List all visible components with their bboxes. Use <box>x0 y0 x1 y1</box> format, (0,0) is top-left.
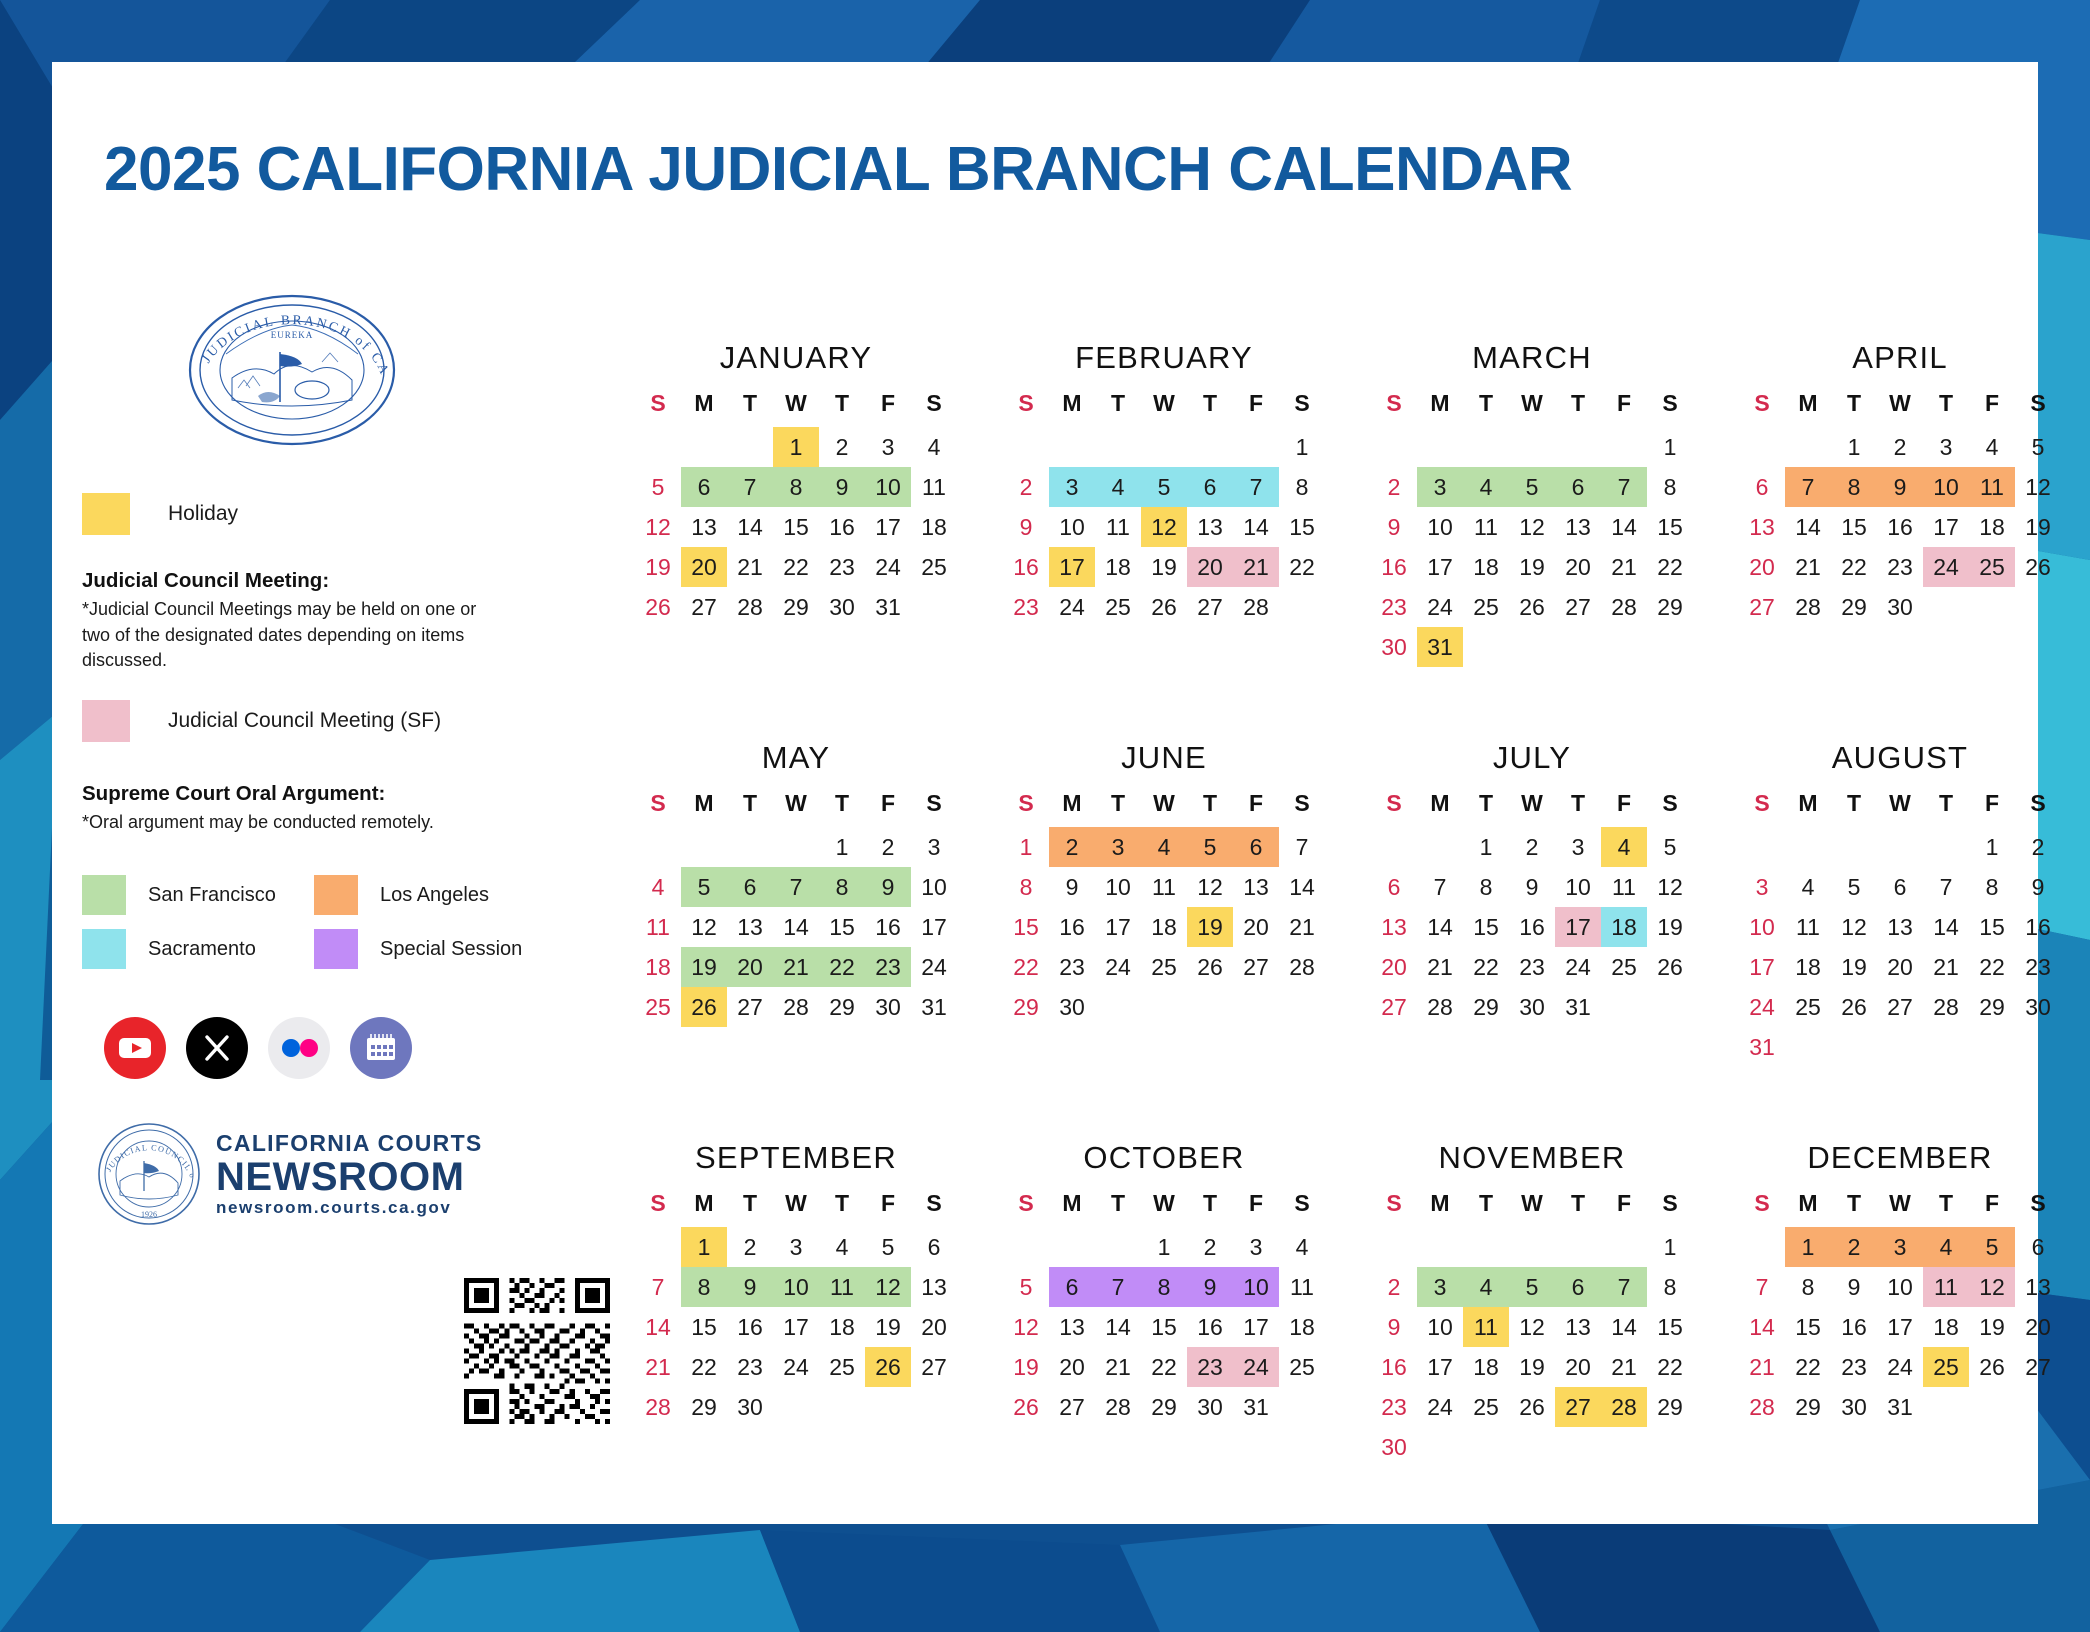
day-cell[interactable]: 4 <box>1969 427 2015 467</box>
day-cell[interactable]: 7 <box>1739 1267 1785 1307</box>
day-cell[interactable]: 1 <box>1647 427 1693 467</box>
day-cell[interactable]: 3 <box>1555 827 1601 867</box>
day-cell[interactable]: 1 <box>1463 827 1509 867</box>
flickr-icon[interactable] <box>268 1017 330 1079</box>
day-cell-oral-argument-sacramento[interactable]: 5 <box>1141 467 1187 507</box>
day-cell-oral-argument-sf[interactable]: 6 <box>681 467 727 507</box>
day-cell[interactable]: 24 <box>1417 1387 1463 1427</box>
day-cell-judicial-council-sf[interactable]: 20 <box>1187 547 1233 587</box>
day-cell-oral-argument-sf[interactable]: 5 <box>1509 1267 1555 1307</box>
day-cell[interactable]: 10 <box>1877 1267 1923 1307</box>
day-cell[interactable]: 27 <box>1049 1387 1095 1427</box>
day-cell[interactable]: 13 <box>1233 867 1279 907</box>
day-cell[interactable]: 23 <box>1049 947 1095 987</box>
day-cell[interactable]: 10 <box>1417 507 1463 547</box>
day-cell[interactable]: 16 <box>1509 907 1555 947</box>
day-cell[interactable]: 27 <box>1233 947 1279 987</box>
day-cell[interactable]: 4 <box>635 867 681 907</box>
day-cell-oral-argument-la[interactable]: 2 <box>1049 827 1095 867</box>
day-cell[interactable]: 21 <box>635 1347 681 1387</box>
day-cell[interactable]: 17 <box>1417 1347 1463 1387</box>
day-cell[interactable]: 11 <box>635 907 681 947</box>
day-cell-oral-argument-sf[interactable]: 7 <box>1601 1267 1647 1307</box>
day-cell[interactable]: 31 <box>1233 1387 1279 1427</box>
day-cell-oral-argument-sf[interactable]: 7 <box>773 867 819 907</box>
day-cell[interactable]: 25 <box>1463 587 1509 627</box>
day-cell[interactable]: 14 <box>1601 507 1647 547</box>
day-cell[interactable]: 16 <box>2015 907 2061 947</box>
day-cell[interactable]: 28 <box>1601 587 1647 627</box>
day-cell[interactable]: 29 <box>1003 987 1049 1027</box>
day-cell-oral-argument-la[interactable]: 8 <box>1831 467 1877 507</box>
day-cell[interactable]: 10 <box>1417 1307 1463 1347</box>
day-cell-oral-argument-sf[interactable]: 3 <box>1417 467 1463 507</box>
day-cell[interactable]: 8 <box>1647 467 1693 507</box>
day-cell[interactable]: 5 <box>865 1227 911 1267</box>
day-cell[interactable]: 19 <box>1509 547 1555 587</box>
day-cell[interactable]: 28 <box>1417 987 1463 1027</box>
day-cell[interactable]: 10 <box>1095 867 1141 907</box>
day-cell-oral-argument-sf[interactable]: 22 <box>819 947 865 987</box>
day-cell[interactable]: 26 <box>1509 1387 1555 1427</box>
day-cell[interactable]: 20 <box>2015 1307 2061 1347</box>
day-cell[interactable]: 24 <box>1555 947 1601 987</box>
day-cell[interactable]: 22 <box>681 1347 727 1387</box>
day-cell-oral-argument-sf[interactable]: 11 <box>819 1267 865 1307</box>
day-cell[interactable]: 22 <box>1831 547 1877 587</box>
day-cell-oral-argument-sf[interactable]: 4 <box>1463 467 1509 507</box>
day-cell[interactable]: 13 <box>681 507 727 547</box>
day-cell-judicial-council-sf[interactable]: 12 <box>1969 1267 2015 1307</box>
day-cell[interactable]: 8 <box>1003 867 1049 907</box>
day-cell[interactable]: 6 <box>1371 867 1417 907</box>
day-cell[interactable]: 21 <box>1601 547 1647 587</box>
day-cell-oral-argument-sacramento[interactable]: 6 <box>1187 467 1233 507</box>
day-cell[interactable]: 27 <box>1877 987 1923 1027</box>
day-cell-special-session[interactable]: 7 <box>1095 1267 1141 1307</box>
day-cell[interactable]: 4 <box>1785 867 1831 907</box>
day-cell[interactable]: 18 <box>1279 1307 1325 1347</box>
day-cell-holiday[interactable]: 25 <box>1923 1347 1969 1387</box>
day-cell[interactable]: 18 <box>819 1307 865 1347</box>
day-cell-holiday[interactable]: 20 <box>681 547 727 587</box>
day-cell[interactable]: 27 <box>681 587 727 627</box>
day-cell[interactable]: 22 <box>1647 547 1693 587</box>
day-cell-judicial-council-sf[interactable]: 11 <box>1923 1267 1969 1307</box>
day-cell[interactable]: 20 <box>1877 947 1923 987</box>
day-cell[interactable]: 16 <box>727 1307 773 1347</box>
day-cell[interactable]: 8 <box>1969 867 2015 907</box>
day-cell[interactable]: 6 <box>2015 1227 2061 1267</box>
day-cell-oral-argument-sf[interactable]: 8 <box>819 867 865 907</box>
day-cell[interactable]: 30 <box>1187 1387 1233 1427</box>
day-cell[interactable]: 20 <box>911 1307 957 1347</box>
day-cell[interactable]: 20 <box>1233 907 1279 947</box>
day-cell[interactable]: 26 <box>2015 547 2061 587</box>
day-cell-oral-argument-la[interactable]: 7 <box>1785 467 1831 507</box>
day-cell[interactable]: 5 <box>1003 1267 1049 1307</box>
day-cell[interactable]: 9 <box>1371 1307 1417 1347</box>
day-cell[interactable]: 18 <box>1463 1347 1509 1387</box>
day-cell-judicial-council-sf[interactable]: 23 <box>1187 1347 1233 1387</box>
day-cell[interactable]: 2 <box>2015 827 2061 867</box>
day-cell[interactable]: 14 <box>1233 507 1279 547</box>
day-cell[interactable]: 5 <box>1831 867 1877 907</box>
day-cell[interactable]: 19 <box>1141 547 1187 587</box>
day-cell-holiday[interactable]: 26 <box>681 987 727 1027</box>
day-cell[interactable]: 15 <box>681 1307 727 1347</box>
day-cell[interactable]: 24 <box>1877 1347 1923 1387</box>
day-cell[interactable]: 26 <box>1187 947 1233 987</box>
day-cell[interactable]: 22 <box>773 547 819 587</box>
day-cell[interactable]: 21 <box>1417 947 1463 987</box>
day-cell[interactable]: 20 <box>1049 1347 1095 1387</box>
day-cell[interactable]: 26 <box>1831 987 1877 1027</box>
day-cell[interactable]: 25 <box>1463 1387 1509 1427</box>
day-cell[interactable]: 25 <box>1279 1347 1325 1387</box>
day-cell-oral-argument-sf[interactable]: 12 <box>865 1267 911 1307</box>
day-cell[interactable]: 8 <box>1279 467 1325 507</box>
day-cell[interactable]: 18 <box>635 947 681 987</box>
day-cell-oral-argument-sf[interactable]: 19 <box>681 947 727 987</box>
day-cell[interactable]: 4 <box>1279 1227 1325 1267</box>
day-cell[interactable]: 14 <box>635 1307 681 1347</box>
day-cell[interactable]: 8 <box>1647 1267 1693 1307</box>
day-cell-special-session[interactable]: 6 <box>1049 1267 1095 1307</box>
day-cell-oral-argument-sf[interactable]: 21 <box>773 947 819 987</box>
day-cell-oral-argument-sacramento[interactable]: 4 <box>1095 467 1141 507</box>
day-cell[interactable]: 28 <box>1095 1387 1141 1427</box>
day-cell[interactable]: 1 <box>1141 1227 1187 1267</box>
day-cell-oral-argument-sf[interactable]: 4 <box>1463 1267 1509 1307</box>
day-cell[interactable]: 10 <box>1739 907 1785 947</box>
day-cell-judicial-council-sf[interactable]: 21 <box>1233 547 1279 587</box>
day-cell[interactable]: 25 <box>635 987 681 1027</box>
day-cell[interactable]: 23 <box>1371 587 1417 627</box>
day-cell[interactable]: 27 <box>1739 587 1785 627</box>
day-cell[interactable]: 28 <box>727 587 773 627</box>
youtube-icon[interactable] <box>104 1017 166 1079</box>
day-cell[interactable]: 23 <box>1371 1387 1417 1427</box>
qr-code[interactable] <box>464 1278 610 1424</box>
x-twitter-icon[interactable] <box>186 1017 248 1079</box>
day-cell[interactable]: 23 <box>1831 1347 1877 1387</box>
day-cell[interactable]: 23 <box>727 1347 773 1387</box>
day-cell[interactable]: 30 <box>1877 587 1923 627</box>
day-cell[interactable]: 29 <box>1647 1387 1693 1427</box>
day-cell[interactable]: 5 <box>2015 427 2061 467</box>
calendar-icon[interactable] <box>350 1017 412 1079</box>
day-cell[interactable]: 25 <box>1785 987 1831 1027</box>
day-cell[interactable]: 17 <box>1739 947 1785 987</box>
day-cell[interactable]: 15 <box>1463 907 1509 947</box>
day-cell[interactable]: 16 <box>1371 547 1417 587</box>
day-cell[interactable]: 23 <box>819 547 865 587</box>
day-cell[interactable]: 27 <box>1371 987 1417 1027</box>
day-cell[interactable]: 10 <box>1555 867 1601 907</box>
day-cell[interactable]: 26 <box>1141 587 1187 627</box>
day-cell[interactable]: 26 <box>1969 1347 2015 1387</box>
day-cell[interactable]: 1 <box>1647 1227 1693 1267</box>
day-cell[interactable]: 15 <box>819 907 865 947</box>
day-cell[interactable]: 18 <box>1463 547 1509 587</box>
day-cell-oral-argument-la[interactable]: 5 <box>1969 1227 2015 1267</box>
day-cell[interactable]: 30 <box>865 987 911 1027</box>
day-cell-oral-argument-sacramento[interactable]: 7 <box>1233 467 1279 507</box>
day-cell-oral-argument-sf[interactable]: 5 <box>1509 467 1555 507</box>
day-cell-judicial-council-sf[interactable]: 17 <box>1555 907 1601 947</box>
day-cell-oral-argument-sf[interactable]: 9 <box>727 1267 773 1307</box>
day-cell-oral-argument-la[interactable]: 6 <box>1233 827 1279 867</box>
day-cell[interactable]: 15 <box>1785 1307 1831 1347</box>
day-cell[interactable]: 14 <box>773 907 819 947</box>
day-cell-oral-argument-la[interactable]: 4 <box>1141 827 1187 867</box>
day-cell[interactable]: 12 <box>1509 507 1555 547</box>
day-cell[interactable]: 12 <box>681 907 727 947</box>
day-cell-oral-argument-sf[interactable]: 8 <box>773 467 819 507</box>
day-cell[interactable]: 27 <box>2015 1347 2061 1387</box>
day-cell[interactable]: 1 <box>1279 427 1325 467</box>
day-cell[interactable]: 26 <box>635 587 681 627</box>
day-cell[interactable]: 25 <box>911 547 957 587</box>
day-cell[interactable]: 3 <box>1233 1227 1279 1267</box>
day-cell[interactable]: 9 <box>1509 867 1555 907</box>
day-cell-oral-argument-la[interactable]: 9 <box>1877 467 1923 507</box>
day-cell-holiday[interactable]: 4 <box>1601 827 1647 867</box>
day-cell[interactable]: 19 <box>865 1307 911 1347</box>
day-cell[interactable]: 26 <box>1003 1387 1049 1427</box>
day-cell[interactable]: 17 <box>1923 507 1969 547</box>
day-cell[interactable]: 15 <box>1647 507 1693 547</box>
day-cell[interactable]: 14 <box>1923 907 1969 947</box>
day-cell-oral-argument-sacramento[interactable]: 18 <box>1601 907 1647 947</box>
day-cell-oral-argument-sf[interactable]: 10 <box>865 467 911 507</box>
day-cell-oral-argument-la[interactable]: 1 <box>1785 1227 1831 1267</box>
day-cell[interactable]: 16 <box>1003 547 1049 587</box>
day-cell[interactable]: 3 <box>1923 427 1969 467</box>
day-cell[interactable]: 2 <box>1187 1227 1233 1267</box>
day-cell[interactable]: 19 <box>1647 907 1693 947</box>
day-cell-holiday[interactable]: 28 <box>1601 1387 1647 1427</box>
day-cell-holiday[interactable]: 31 <box>1417 627 1463 667</box>
day-cell[interactable]: 24 <box>865 547 911 587</box>
day-cell[interactable]: 20 <box>1371 947 1417 987</box>
day-cell[interactable]: 22 <box>1003 947 1049 987</box>
day-cell[interactable]: 30 <box>819 587 865 627</box>
day-cell[interactable]: 27 <box>911 1347 957 1387</box>
day-cell[interactable]: 20 <box>1739 547 1785 587</box>
day-cell[interactable]: 26 <box>1647 947 1693 987</box>
day-cell[interactable]: 18 <box>1141 907 1187 947</box>
day-cell[interactable]: 2 <box>819 427 865 467</box>
day-cell[interactable]: 8 <box>1785 1267 1831 1307</box>
day-cell[interactable]: 19 <box>635 547 681 587</box>
day-cell[interactable]: 9 <box>1831 1267 1877 1307</box>
day-cell[interactable]: 3 <box>1739 867 1785 907</box>
day-cell[interactable]: 11 <box>1785 907 1831 947</box>
day-cell[interactable]: 30 <box>1509 987 1555 1027</box>
day-cell[interactable]: 31 <box>911 987 957 1027</box>
day-cell[interactable]: 10 <box>1049 507 1095 547</box>
day-cell[interactable]: 22 <box>1279 547 1325 587</box>
day-cell[interactable]: 29 <box>1969 987 2015 1027</box>
day-cell[interactable]: 13 <box>1187 507 1233 547</box>
day-cell[interactable]: 22 <box>1463 947 1509 987</box>
day-cell[interactable]: 13 <box>1049 1307 1095 1347</box>
day-cell[interactable]: 28 <box>1785 587 1831 627</box>
day-cell[interactable]: 22 <box>1969 947 2015 987</box>
day-cell[interactable]: 9 <box>1049 867 1095 907</box>
day-cell[interactable]: 12 <box>1647 867 1693 907</box>
day-cell[interactable]: 18 <box>1923 1307 1969 1347</box>
day-cell[interactable]: 13 <box>2015 1267 2061 1307</box>
day-cell[interactable]: 16 <box>1831 1307 1877 1347</box>
day-cell[interactable]: 24 <box>1417 587 1463 627</box>
day-cell-oral-argument-sf[interactable]: 3 <box>1417 1267 1463 1307</box>
day-cell[interactable]: 11 <box>1141 867 1187 907</box>
day-cell[interactable]: 11 <box>1279 1267 1325 1307</box>
day-cell[interactable]: 13 <box>1555 1307 1601 1347</box>
day-cell[interactable]: 13 <box>911 1267 957 1307</box>
day-cell[interactable]: 1 <box>1969 827 2015 867</box>
day-cell[interactable]: 30 <box>1371 627 1417 667</box>
day-cell[interactable]: 2 <box>1509 827 1555 867</box>
day-cell[interactable]: 6 <box>1877 867 1923 907</box>
day-cell-judicial-council-sf[interactable]: 24 <box>1923 547 1969 587</box>
day-cell[interactable]: 15 <box>1279 507 1325 547</box>
day-cell[interactable]: 8 <box>1463 867 1509 907</box>
day-cell[interactable]: 28 <box>1739 1387 1785 1427</box>
day-cell-oral-argument-sf[interactable]: 9 <box>819 467 865 507</box>
day-cell[interactable]: 2 <box>1371 467 1417 507</box>
day-cell[interactable]: 19 <box>1509 1347 1555 1387</box>
day-cell[interactable]: 14 <box>1601 1307 1647 1347</box>
day-cell[interactable]: 30 <box>727 1387 773 1427</box>
day-cell[interactable]: 13 <box>1739 507 1785 547</box>
day-cell[interactable]: 14 <box>1417 907 1463 947</box>
day-cell-holiday[interactable]: 1 <box>681 1227 727 1267</box>
day-cell-oral-argument-la[interactable]: 10 <box>1923 467 1969 507</box>
day-cell[interactable]: 7 <box>635 1267 681 1307</box>
day-cell-special-session[interactable]: 10 <box>1233 1267 1279 1307</box>
day-cell-holiday[interactable]: 27 <box>1555 1387 1601 1427</box>
day-cell[interactable]: 29 <box>1831 587 1877 627</box>
day-cell[interactable]: 26 <box>1509 587 1555 627</box>
day-cell[interactable]: 27 <box>1187 587 1233 627</box>
day-cell[interactable]: 16 <box>1877 507 1923 547</box>
day-cell[interactable]: 11 <box>1463 507 1509 547</box>
day-cell[interactable]: 23 <box>1509 947 1555 987</box>
day-cell-oral-argument-la[interactable]: 11 <box>1969 467 2015 507</box>
day-cell[interactable]: 21 <box>1279 907 1325 947</box>
day-cell[interactable]: 28 <box>773 987 819 1027</box>
day-cell[interactable]: 17 <box>911 907 957 947</box>
day-cell[interactable]: 2 <box>1003 467 1049 507</box>
day-cell[interactable]: 5 <box>635 467 681 507</box>
day-cell[interactable]: 16 <box>1371 1347 1417 1387</box>
day-cell-holiday[interactable]: 11 <box>1463 1307 1509 1347</box>
day-cell[interactable]: 17 <box>773 1307 819 1347</box>
day-cell[interactable]: 12 <box>1831 907 1877 947</box>
day-cell[interactable]: 2 <box>1371 1267 1417 1307</box>
day-cell[interactable]: 23 <box>1877 547 1923 587</box>
day-cell[interactable]: 16 <box>819 507 865 547</box>
day-cell[interactable]: 14 <box>1785 507 1831 547</box>
day-cell[interactable]: 30 <box>1831 1387 1877 1427</box>
day-cell[interactable]: 23 <box>2015 947 2061 987</box>
day-cell[interactable]: 18 <box>1785 947 1831 987</box>
day-cell[interactable]: 17 <box>1233 1307 1279 1347</box>
day-cell[interactable]: 24 <box>1095 947 1141 987</box>
day-cell-oral-argument-sf[interactable]: 6 <box>1555 1267 1601 1307</box>
day-cell[interactable]: 2 <box>1877 427 1923 467</box>
day-cell[interactable]: 3 <box>911 827 957 867</box>
day-cell[interactable]: 17 <box>1877 1307 1923 1347</box>
day-cell[interactable]: 29 <box>773 587 819 627</box>
day-cell[interactable]: 4 <box>819 1227 865 1267</box>
day-cell[interactable]: 21 <box>1923 947 1969 987</box>
day-cell[interactable]: 21 <box>1095 1347 1141 1387</box>
day-cell[interactable]: 7 <box>1417 867 1463 907</box>
day-cell[interactable]: 17 <box>1417 547 1463 587</box>
day-cell[interactable]: 2 <box>865 827 911 867</box>
day-cell[interactable]: 25 <box>1601 947 1647 987</box>
day-cell-oral-argument-sf[interactable]: 5 <box>681 867 727 907</box>
day-cell[interactable]: 29 <box>1463 987 1509 1027</box>
day-cell-special-session[interactable]: 8 <box>1141 1267 1187 1307</box>
day-cell[interactable]: 13 <box>1877 907 1923 947</box>
day-cell[interactable]: 19 <box>1003 1347 1049 1387</box>
day-cell[interactable]: 29 <box>1141 1387 1187 1427</box>
day-cell[interactable]: 15 <box>773 507 819 547</box>
day-cell[interactable]: 1 <box>1003 827 1049 867</box>
day-cell[interactable]: 16 <box>1187 1307 1233 1347</box>
day-cell-judicial-council-sf[interactable]: 25 <box>1969 547 2015 587</box>
day-cell[interactable]: 31 <box>1555 987 1601 1027</box>
day-cell[interactable]: 21 <box>1601 1347 1647 1387</box>
day-cell-oral-argument-la[interactable]: 5 <box>1187 827 1233 867</box>
day-cell[interactable]: 11 <box>1601 867 1647 907</box>
day-cell-special-session[interactable]: 9 <box>1187 1267 1233 1307</box>
day-cell[interactable]: 20 <box>1555 547 1601 587</box>
day-cell[interactable]: 25 <box>819 1347 865 1387</box>
day-cell[interactable]: 27 <box>1555 587 1601 627</box>
day-cell[interactable]: 6 <box>1739 467 1785 507</box>
day-cell[interactable]: 20 <box>1555 1347 1601 1387</box>
day-cell[interactable]: 21 <box>727 547 773 587</box>
day-cell[interactable]: 12 <box>1509 1307 1555 1347</box>
day-cell-oral-argument-la[interactable]: 3 <box>1095 827 1141 867</box>
day-cell-holiday[interactable]: 17 <box>1049 547 1095 587</box>
day-cell[interactable]: 24 <box>1739 987 1785 1027</box>
day-cell[interactable]: 6 <box>911 1227 957 1267</box>
day-cell[interactable]: 21 <box>1739 1347 1785 1387</box>
day-cell-holiday[interactable]: 1 <box>773 427 819 467</box>
day-cell[interactable]: 23 <box>1003 587 1049 627</box>
day-cell[interactable]: 28 <box>1233 587 1279 627</box>
day-cell[interactable]: 29 <box>681 1387 727 1427</box>
day-cell[interactable]: 22 <box>1647 1347 1693 1387</box>
day-cell-oral-argument-sf[interactable]: 6 <box>1555 467 1601 507</box>
day-cell[interactable]: 28 <box>1923 987 1969 1027</box>
day-cell-oral-argument-sf[interactable]: 7 <box>727 467 773 507</box>
day-cell-oral-argument-sf[interactable]: 23 <box>865 947 911 987</box>
day-cell[interactable]: 2 <box>727 1227 773 1267</box>
day-cell[interactable]: 15 <box>1647 1307 1693 1347</box>
day-cell[interactable]: 18 <box>1969 507 2015 547</box>
day-cell-holiday[interactable]: 12 <box>1141 507 1187 547</box>
day-cell[interactable]: 18 <box>911 507 957 547</box>
